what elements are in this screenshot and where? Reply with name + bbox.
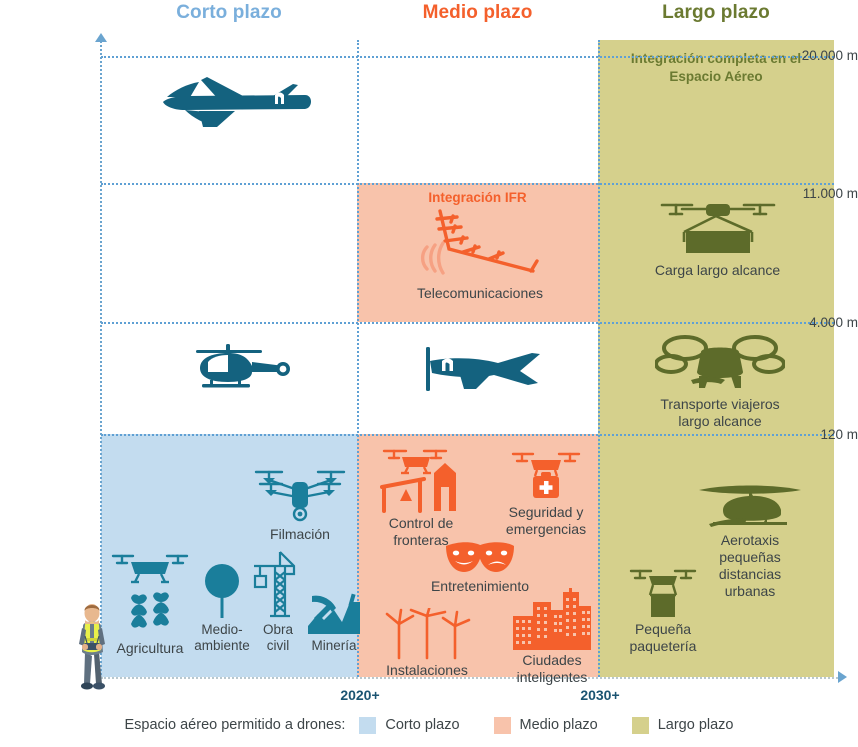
y-tick-label-4000m: 4.000 m bbox=[766, 315, 858, 330]
item-carga-largo-alcance: Carga largo alcance bbox=[630, 198, 805, 279]
item-label-agricultura: Agricultura bbox=[105, 640, 195, 657]
item-label-ciudades: Ciudades inteligentes bbox=[502, 652, 602, 686]
item-label-telecomunicaciones: Telecomunicaciones bbox=[385, 285, 575, 302]
passenger-multirotor-icon bbox=[655, 332, 785, 394]
item-seguridad-emergencias: Seguridad y emergencias bbox=[496, 448, 596, 538]
item-helicopter bbox=[180, 338, 300, 396]
legend-entry-largo-plazo: Largo plazo bbox=[632, 717, 734, 734]
legend-swatch-corto-plazo bbox=[359, 717, 376, 734]
theatre-masks-icon bbox=[444, 540, 516, 576]
item-label-carga: Carga largo alcance bbox=[630, 262, 805, 279]
item-mineria: Minería bbox=[298, 592, 370, 654]
item-label-filmacion: Filmación bbox=[245, 526, 355, 543]
legend-label-corto-plazo: Corto plazo bbox=[385, 717, 459, 733]
item-aerotaxis: Aerotaxis pequeñas distancias urbanas bbox=[690, 480, 810, 600]
legend-swatch-largo-plazo bbox=[632, 717, 649, 734]
item-label-seguridad: Seguridad y emergencias bbox=[496, 504, 596, 538]
item-agricultura: Agricultura bbox=[105, 548, 195, 657]
item-instalaciones: Instalaciones bbox=[372, 608, 482, 679]
cargo-drone-icon bbox=[658, 198, 778, 260]
agriculture-drone-wheat-icon bbox=[109, 548, 191, 638]
legend-title: Espacio aéreo permitido a drones: bbox=[125, 717, 346, 733]
legend-entry-medio-plazo: Medio plazo bbox=[494, 717, 598, 734]
border-control-drone-icon bbox=[372, 445, 470, 513]
legend-swatch-medio-plazo bbox=[494, 717, 511, 734]
parcel-drone-icon bbox=[629, 565, 697, 619]
column-header-corto-plazo: Corto plazo bbox=[101, 0, 357, 28]
item-medio-ambiente: Medio- ambiente bbox=[186, 562, 258, 654]
smart-city-icon bbox=[511, 588, 593, 650]
mining-pickaxe-icon bbox=[306, 592, 362, 636]
gridline-20000m bbox=[101, 56, 834, 58]
helicopter-icon bbox=[184, 338, 296, 394]
item-light-plane bbox=[418, 345, 548, 397]
item-label-medio-ambiente: Medio- ambiente bbox=[186, 622, 258, 654]
haps-telecom-drone-icon bbox=[405, 205, 555, 283]
legend-entry-corto-plazo: Corto plazo bbox=[359, 717, 459, 734]
legend: Espacio aéreo permitido a drones: Corto … bbox=[0, 712, 858, 738]
legend-label-largo-plazo: Largo plazo bbox=[658, 717, 734, 733]
light-plane-icon bbox=[420, 345, 546, 395]
y-axis-arrow-icon bbox=[95, 33, 107, 42]
column-header-medio-plazo: Medio plazo bbox=[357, 0, 598, 28]
item-telecomunicaciones: Telecomunicaciones bbox=[385, 205, 575, 302]
item-transporte-viajeros: Transporte viajeros largo alcance bbox=[635, 332, 805, 430]
medical-delivery-drone-icon bbox=[511, 448, 581, 502]
item-label-instalaciones: Instalaciones bbox=[372, 662, 482, 679]
aerotaxi-icon bbox=[695, 480, 805, 530]
infographic-canvas: Corto plazo Medio plazo Largo plazo Inte… bbox=[0, 0, 858, 747]
item-label-mineria: Minería bbox=[298, 638, 370, 654]
legend-label-medio-plazo: Medio plazo bbox=[520, 717, 598, 733]
item-airliner bbox=[150, 72, 320, 136]
x-tick-label-2030: 2030+ bbox=[540, 687, 660, 703]
item-control-fronteras: Control de fronteras bbox=[366, 445, 476, 549]
camera-drone-icon bbox=[252, 462, 348, 524]
x-axis-arrow-icon bbox=[838, 671, 847, 683]
item-label-paqueteria: Pequeña paquetería bbox=[610, 621, 716, 655]
item-ciudades-inteligentes: Ciudades inteligentes bbox=[502, 588, 602, 686]
y-axis bbox=[100, 38, 102, 679]
gridline-120m bbox=[101, 434, 834, 436]
drone-operator-figure bbox=[72, 600, 112, 690]
x-tick-label-2020: 2020+ bbox=[300, 687, 420, 703]
item-label-aerotaxis: Aerotaxis pequeñas distancias urbanas bbox=[690, 532, 810, 600]
item-label-transporte: Transporte viajeros largo alcance bbox=[635, 396, 805, 430]
gridline-11000m bbox=[101, 183, 834, 185]
gridline-4000m bbox=[101, 322, 834, 324]
item-entretenimiento: Entretenimiento bbox=[400, 540, 560, 595]
y-tick-label-20000m: 20.000 m bbox=[766, 48, 858, 63]
item-filmacion: Filmación bbox=[245, 462, 355, 543]
wind-turbines-icon bbox=[379, 608, 475, 660]
airliner-icon bbox=[155, 72, 315, 134]
column-header-largo-plazo: Largo plazo bbox=[598, 0, 834, 28]
column-divider-2020 bbox=[357, 40, 359, 677]
column-divider-2030 bbox=[598, 40, 600, 677]
tree-icon bbox=[200, 562, 244, 620]
